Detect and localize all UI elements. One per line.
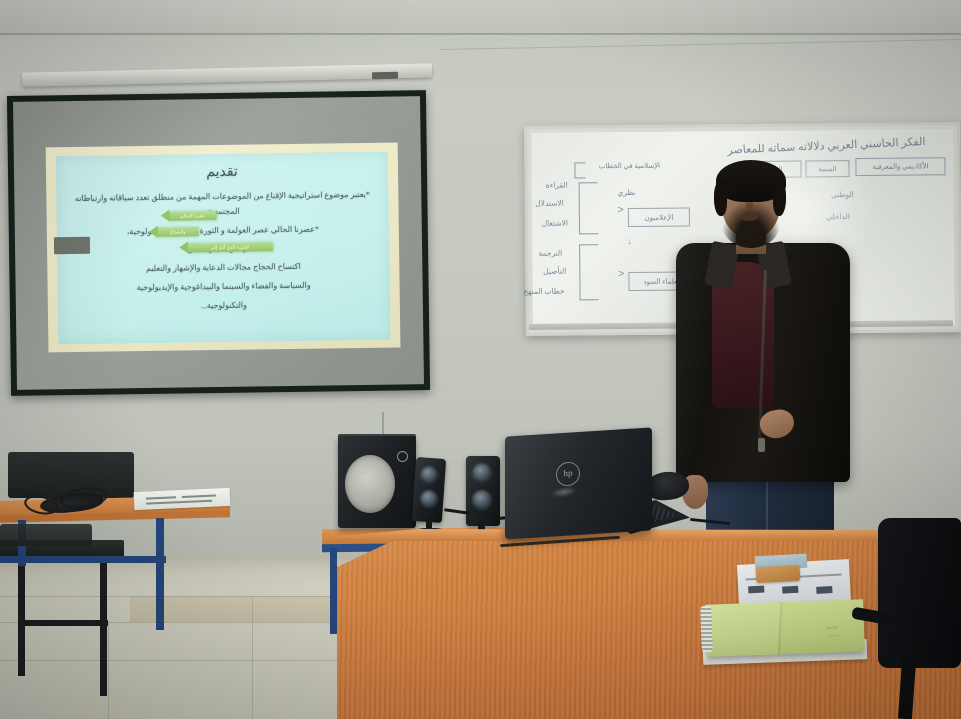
lecturer-mouth	[740, 214, 758, 221]
slide-line: *يعتبر موضوع استراتيجية الإقناع من الموض…	[64, 188, 380, 222]
subwoofer-logo-icon	[397, 451, 408, 462]
student-desk-front-leg	[156, 518, 164, 630]
slide-callout-label: الشيء الذي أدى إلى	[187, 244, 273, 251]
student-chair-left-leg	[18, 556, 25, 676]
whiteboard-bracket	[574, 162, 585, 178]
slide-title: تقديم	[56, 162, 388, 184]
slide-callout-arrow: عصرنا الحالي	[169, 211, 217, 221]
lecturer-hair-side-right	[773, 182, 786, 216]
booklet-fold-shading	[705, 599, 865, 656]
subwoofer-antenna	[382, 412, 384, 436]
classroom-photo: تقديم *يعتبر موضوع استراتيجية الإقناع من…	[0, 0, 961, 719]
slide-callout-label: عصرنا الحالي	[169, 213, 217, 220]
side-table-leg	[330, 548, 337, 634]
front-table-grain	[337, 529, 961, 719]
subwoofer-cone	[345, 455, 395, 513]
ceiling-edge-line	[0, 33, 961, 35]
slide-callout-arrow: والحجاج	[157, 227, 199, 237]
booklet-note: دراسة	[829, 632, 841, 638]
office-chair-right[interactable]	[878, 518, 961, 668]
whiteboard-arrow-icon: >	[618, 268, 625, 280]
satellite-speaker-right-driver-bottom	[472, 490, 492, 510]
slide-mat: تقديم *يعتبر موضوع استراتيجية الإقناع من…	[46, 142, 401, 352]
slide-line: اكتساح الحجاج مجالات الدعاية والإشهار وا…	[65, 259, 381, 278]
slide-callout-label: والحجاج	[157, 229, 199, 236]
presentation-slide: تقديم *يعتبر موضوع استراتيجية الإقناع من…	[56, 152, 391, 345]
laptop-lid[interactable]	[505, 427, 652, 539]
whiteboard-arrow-icon: >	[617, 204, 624, 216]
whiteboard-note: القراءة	[546, 181, 568, 190]
whiteboard-note: خطاب المنهج	[523, 287, 564, 296]
student-chair-left-leg	[100, 556, 107, 696]
ceiling-band	[0, 0, 961, 34]
whiteboard-note: الترجمة	[538, 249, 562, 258]
whiteboard-bracket	[579, 244, 598, 300]
projector-screen-housing-tab	[372, 72, 398, 80]
floor-seam	[108, 622, 109, 719]
whiteboard-note: الاشتغال	[542, 219, 568, 228]
whiteboard-bracket	[579, 182, 598, 234]
bread-snack	[756, 565, 801, 583]
slide-line: والسياسة والفضاء والسينما والبيداغوجية و…	[66, 278, 382, 297]
student-chair-back-rest	[0, 524, 92, 546]
whiteboard-arrow-icon: ↓	[628, 236, 633, 246]
whiteboard-heading: الإسلامية في الخطاب	[583, 158, 675, 175]
student-desk-front-rail	[0, 556, 166, 563]
whiteboard-box: الإعلاميون	[628, 207, 690, 227]
lecturer-hair-side-left	[714, 182, 727, 216]
student-chair-left-rail	[20, 620, 108, 626]
floor-seam	[252, 596, 253, 719]
lecturer-zip-pull	[758, 438, 765, 452]
slide-line: *عصرنا الحالي عصر العولمة و الثورة الرقم…	[65, 221, 381, 240]
whiteboard-note: الاستدلال	[535, 199, 564, 208]
booklet-spiral-binding	[700, 606, 713, 652]
slide-body: *يعتبر موضوع استراتيجية الإقناع من الموض…	[64, 188, 382, 320]
whiteboard-note: نظري	[617, 188, 635, 197]
slide-callout-arrow: الشيء الذي أدى إلى	[187, 242, 273, 252]
booklet-note: دراسة	[826, 624, 838, 630]
whiteboard-note: التأصيل	[543, 267, 566, 276]
slide-line: والتكنولوجية...	[66, 297, 382, 316]
satellite-speaker-right-driver-top	[472, 463, 492, 483]
spiral-booklet: دراسة دراسة	[705, 599, 865, 656]
projector-screen-side-clip	[54, 237, 90, 255]
front-table-edge	[337, 529, 961, 541]
